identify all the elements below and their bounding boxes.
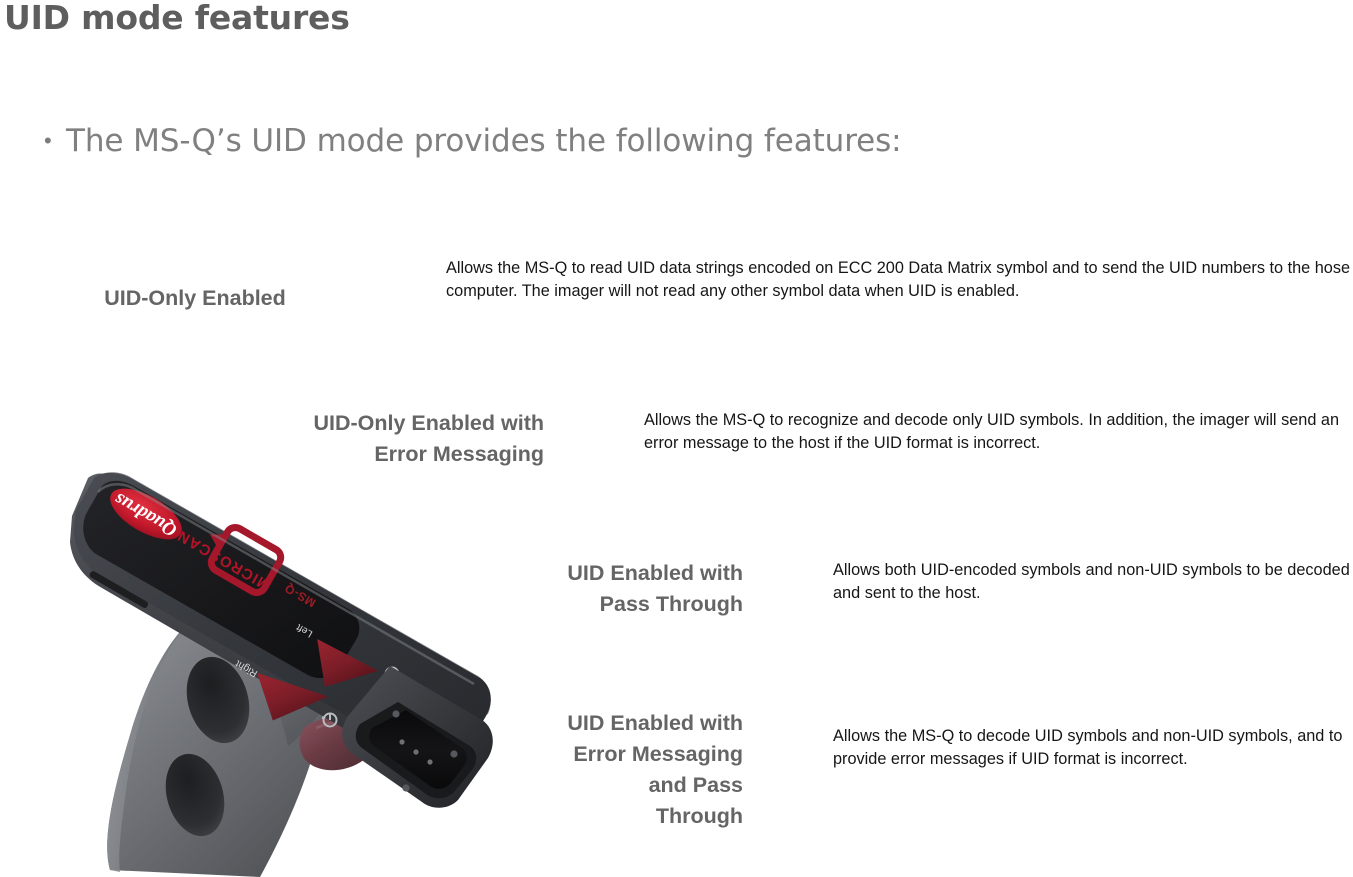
feature-description-uid-only-enabled-with-error-messaging: Allows the MS-Q to recognize and decode … [644,409,1353,454]
bullet-marker-icon: • [44,118,66,164]
feature-label-uid-only-enabled-with-error-messaging: UID-Only Enabled with Error Messaging [190,408,544,470]
feature-description-uid-enabled-with-error-messaging-and-pass-through: Allows the MS-Q to decode UID symbols an… [833,725,1353,770]
bullet-row: • The MS-Q’s UID mode provides the follo… [44,118,902,164]
feature-label-uid-only-enabled: UID-Only Enabled [40,283,350,314]
page-title: UID mode features [4,0,350,37]
feature-description-uid-enabled-with-pass-through: Allows both UID-encoded symbols and non-… [833,559,1353,604]
feature-description-uid-only-enabled: Allows the MS-Q to read UID data strings… [446,257,1351,302]
bullet-text: The MS-Q’s UID mode provides the followi… [66,118,902,164]
product-photo-ms-q-imager: Quadrus MICROSCAN MS-Q Left Right [50,470,500,877]
